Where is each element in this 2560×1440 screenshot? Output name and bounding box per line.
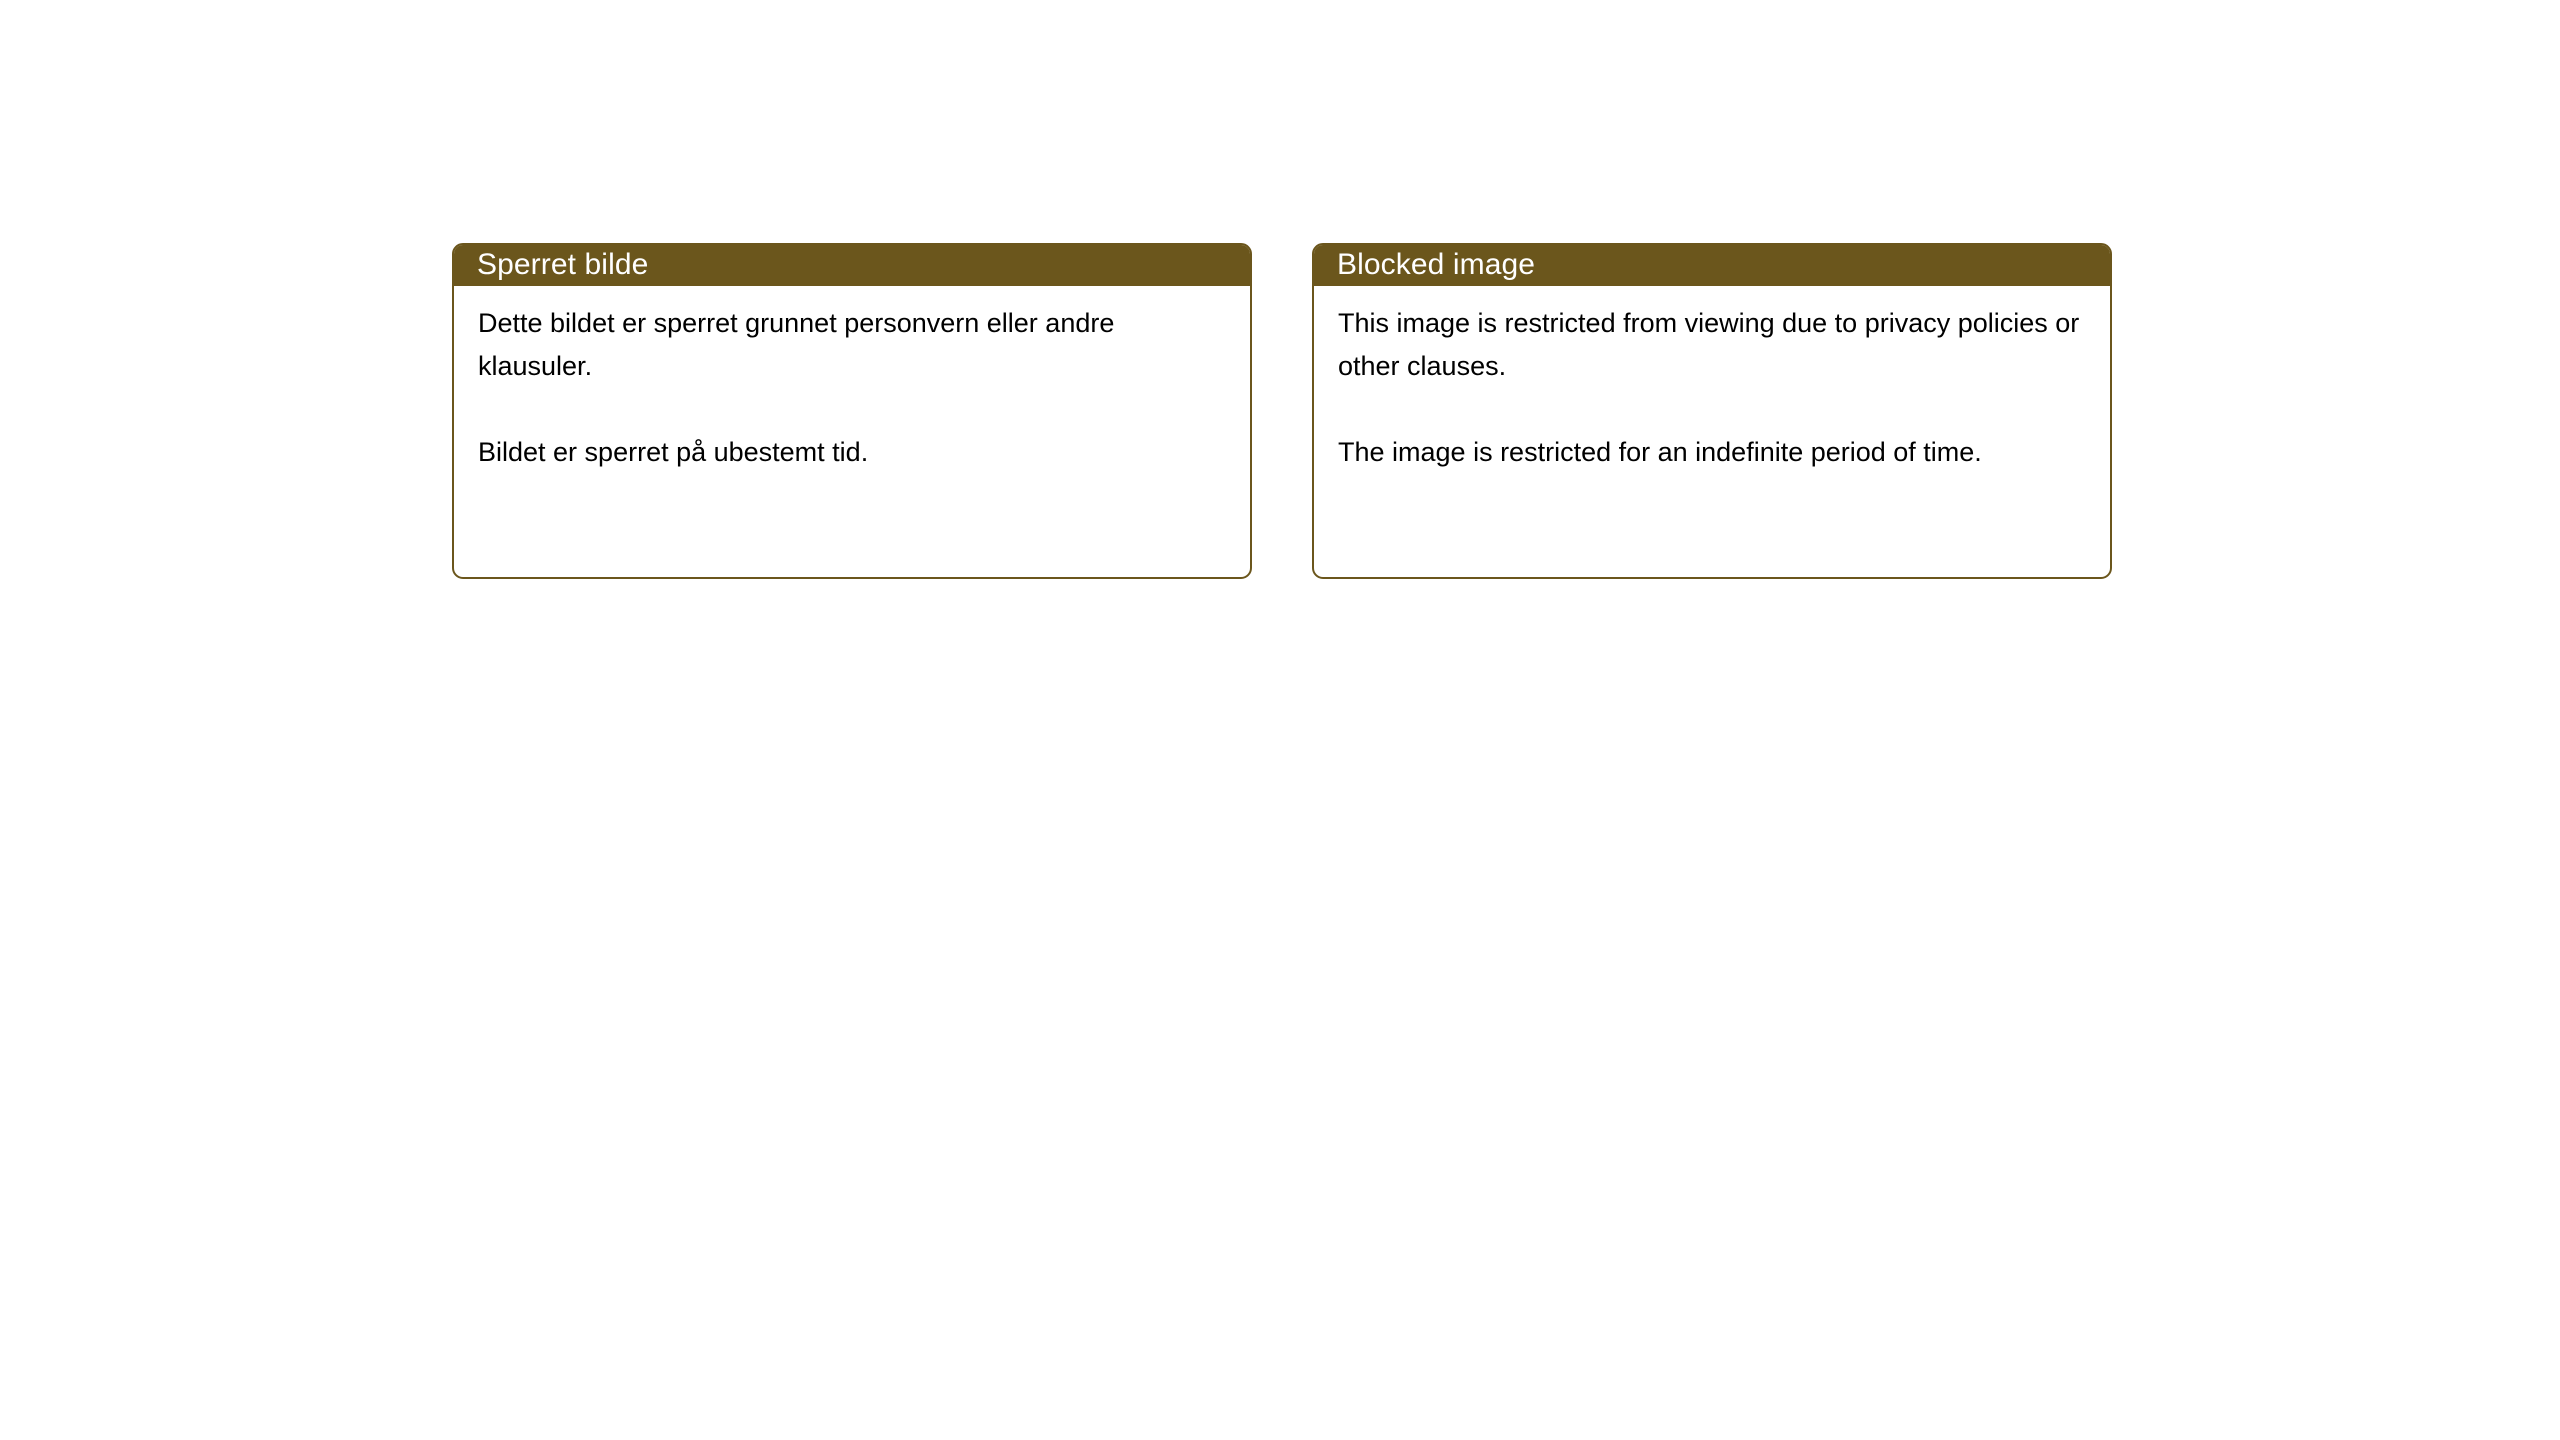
card-paragraph-duration-norwegian: Bildet er sperret på ubestemt tid. — [478, 431, 1226, 474]
card-header-norwegian: Sperret bilde — [453, 244, 1251, 286]
card-paragraph-duration-english: The image is restricted for an indefinit… — [1338, 431, 2086, 474]
card-title-norwegian: Sperret bilde — [477, 248, 648, 282]
blocked-image-card-english: Blocked image This image is restricted f… — [1312, 243, 2112, 579]
paragraph-spacer — [1338, 388, 2086, 431]
card-title-english: Blocked image — [1337, 248, 1535, 282]
card-body-norwegian: Dette bildet er sperret grunnet personve… — [454, 286, 1250, 474]
blocked-image-card-norwegian: Sperret bilde Dette bildet er sperret gr… — [452, 243, 1252, 579]
card-body-english: This image is restricted from viewing du… — [1314, 286, 2110, 474]
page-canvas: Sperret bilde Dette bildet er sperret gr… — [0, 0, 2560, 1440]
paragraph-spacer — [478, 388, 1226, 431]
card-paragraph-reason-english: This image is restricted from viewing du… — [1338, 302, 2086, 388]
card-header-english: Blocked image — [1313, 244, 2111, 286]
card-paragraph-reason-norwegian: Dette bildet er sperret grunnet personve… — [478, 302, 1226, 388]
